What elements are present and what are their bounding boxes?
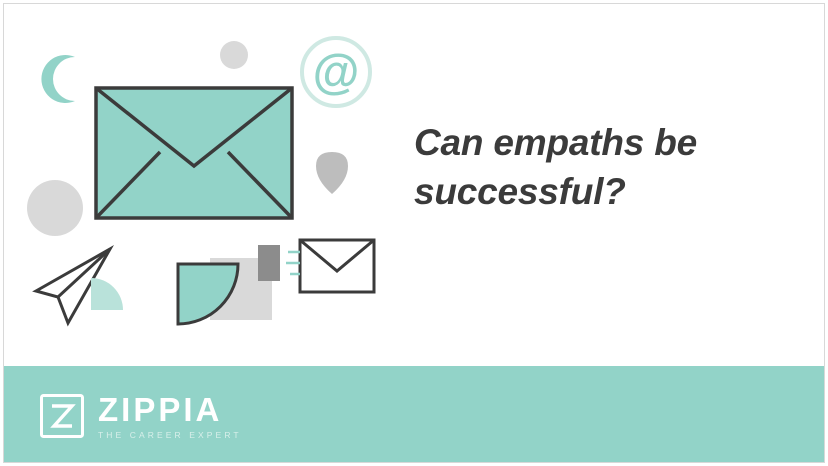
brand-name: ZIPPIA: [98, 393, 242, 426]
at-symbol-icon: @: [302, 38, 370, 106]
svg-text:@: @: [313, 46, 360, 99]
square-icon: [258, 245, 280, 281]
page-title: Can empaths be successful?: [414, 118, 774, 216]
small-envelope-icon: [286, 240, 374, 292]
zippia-logo: ZIPPIA THE CAREER EXPERT: [40, 393, 242, 440]
footer-bar: ZIPPIA THE CAREER EXPERT: [4, 366, 824, 462]
zippia-z-logo-icon: [40, 394, 84, 438]
zippia-social-card: @: [0, 0, 828, 466]
circle-icon: [27, 180, 83, 236]
brand-tagline: THE CAREER EXPERT: [98, 431, 242, 440]
teardrop-icon: [316, 152, 348, 194]
fan-shape-icon: [91, 278, 123, 310]
crescent-icon: [41, 55, 75, 103]
email-envelopes-illustration: @: [0, 0, 400, 366]
large-envelope-icon: [96, 88, 292, 218]
circle-icon: [220, 41, 248, 69]
